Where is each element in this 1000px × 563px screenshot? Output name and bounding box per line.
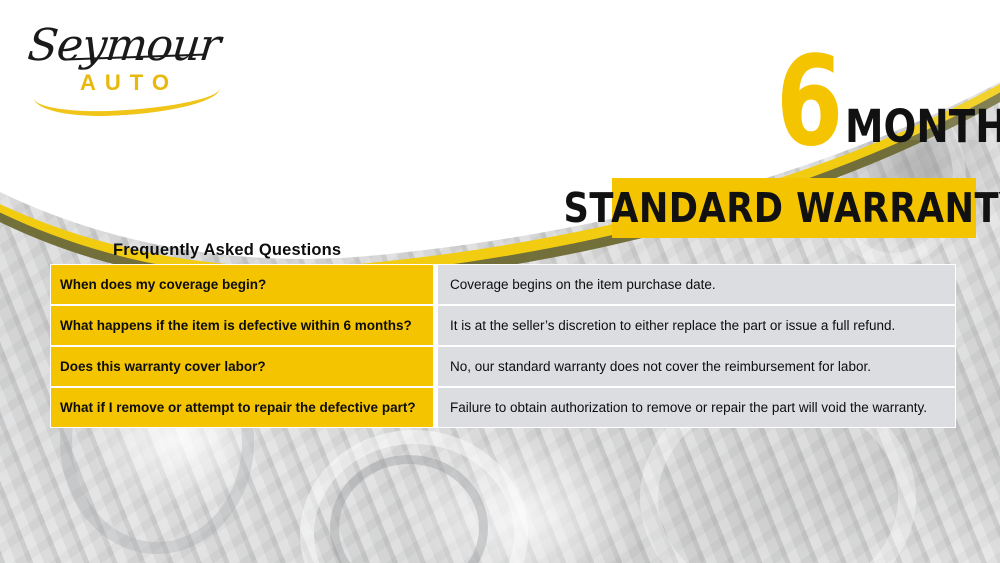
faq-answer-cell: Failure to obtain authorization to remov…: [438, 387, 956, 428]
warranty-slide: Seymour AUTO 6 MONTH STANDARD WARRANTY F…: [0, 0, 1000, 563]
table-row: Does this warranty cover labor? No, our …: [50, 346, 956, 387]
faq-answer-cell: No, our standard warranty does not cover…: [438, 346, 956, 387]
faq-heading: Frequently Asked Questions: [113, 241, 341, 260]
faq-question-cell: What happens if the item is defective wi…: [50, 305, 438, 346]
duration-unit: MONTH: [845, 104, 1000, 149]
standard-warranty-banner-text: STANDARD WARRANTY: [563, 188, 1000, 229]
table-row: What happens if the item is defective wi…: [50, 305, 956, 346]
faq-answer-cell: It is at the seller’s discretion to eith…: [438, 305, 956, 346]
logo-script-text: Seymour: [25, 20, 222, 71]
faq-table-body: When does my coverage begin? Coverage be…: [50, 264, 956, 428]
faq-question-cell: What if I remove or attempt to repair th…: [50, 387, 438, 428]
faq-question-cell: Does this warranty cover labor?: [50, 346, 438, 387]
logo-sub-text: AUTO: [80, 70, 178, 96]
faq-table: When does my coverage begin? Coverage be…: [50, 264, 956, 428]
standard-warranty-banner: STANDARD WARRANTY: [612, 178, 976, 238]
table-row: When does my coverage begin? Coverage be…: [50, 264, 956, 305]
duration-number: 6: [776, 44, 842, 160]
faq-question-cell: When does my coverage begin?: [50, 264, 438, 305]
faq-answer-cell: Coverage begins on the item purchase dat…: [438, 264, 956, 305]
seymour-auto-logo: Seymour AUTO: [18, 18, 223, 110]
table-row: What if I remove or attempt to repair th…: [50, 387, 956, 428]
